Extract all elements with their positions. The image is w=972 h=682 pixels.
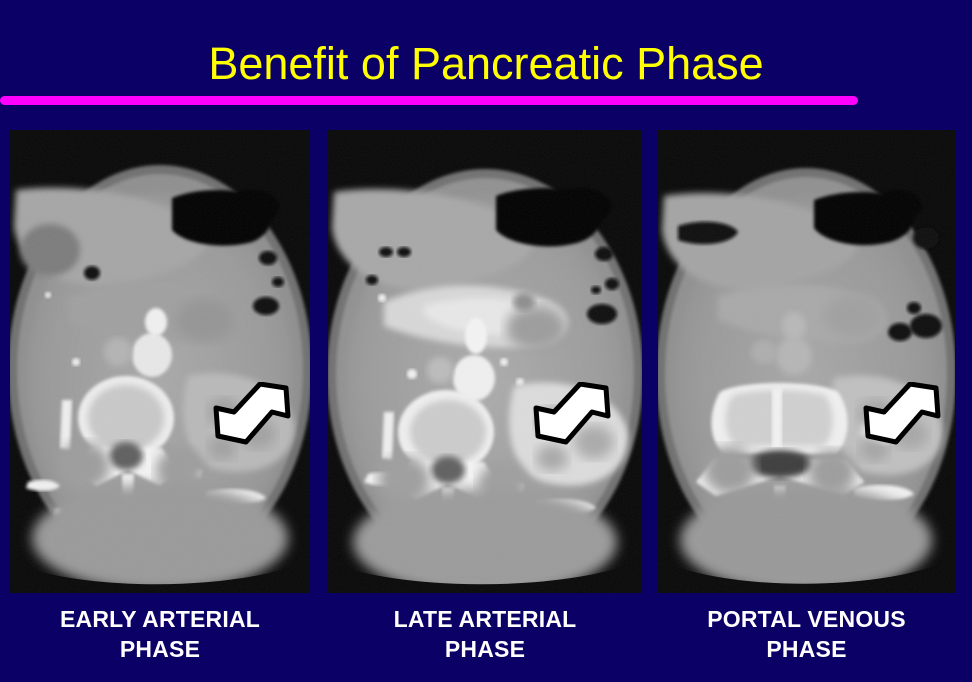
caption-line-2: PHASE	[328, 634, 642, 664]
image-panel-group	[0, 130, 972, 593]
caption-line-2: PHASE	[658, 634, 955, 664]
caption-line-1: LATE ARTERIAL	[394, 606, 577, 632]
presentation-slide: Benefit of Pancreatic Phase	[0, 0, 972, 682]
page-title: Benefit of Pancreatic Phase	[0, 38, 972, 90]
ct-anatomy-render	[328, 130, 642, 593]
caption-early-arterial: EARLY ARTERIAL PHASE	[10, 604, 310, 664]
ct-image-early-arterial[interactable]	[10, 130, 310, 593]
caption-late-arterial: LATE ARTERIAL PHASE	[328, 604, 642, 664]
ct-image-late-arterial[interactable]	[328, 130, 642, 593]
caption-portal-venous: PORTAL VENOUS PHASE	[658, 604, 955, 664]
ct-scan-image	[328, 130, 642, 593]
ct-scan-image	[658, 130, 955, 593]
caption-line-1: EARLY ARTERIAL	[60, 606, 260, 632]
annotation-arrow-icon	[528, 382, 612, 454]
annotation-arrow-icon	[208, 382, 292, 454]
caption-line-2: PHASE	[10, 634, 310, 664]
annotation-arrow-icon	[858, 382, 942, 454]
ct-anatomy-render	[658, 130, 955, 593]
ct-image-portal-venous[interactable]	[658, 130, 955, 593]
caption-line-1: PORTAL VENOUS	[707, 606, 906, 632]
caption-group: EARLY ARTERIAL PHASE LATE ARTERIAL PHASE…	[0, 604, 972, 682]
title-divider-rule	[0, 96, 858, 105]
ct-scan-image	[10, 130, 310, 593]
ct-anatomy-render	[10, 130, 310, 593]
